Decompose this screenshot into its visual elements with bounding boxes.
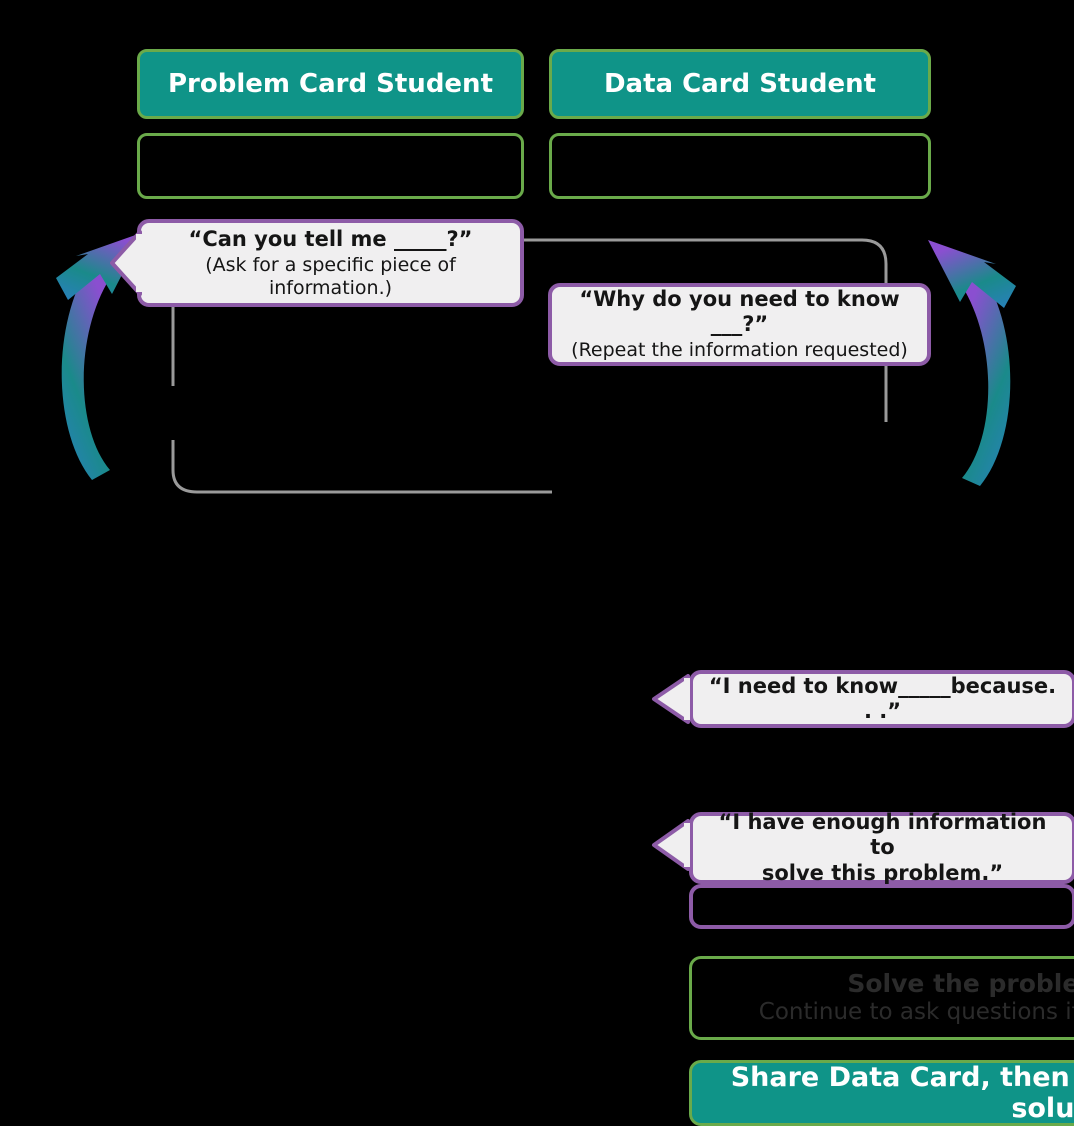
bubble-why-need-to-know[interactable]: “Why do you need to know ___?” (Repeat t… — [548, 283, 931, 366]
bubble-enough-line1: “I have enough information to — [705, 810, 1060, 861]
bubble-ask-line2: (Ask for a specific piece of information… — [153, 254, 508, 300]
banner-solve-line2: Continue to ask questions if more inform… — [759, 999, 1074, 1025]
bubble-why-line1: “Why do you need to know ___?” — [564, 287, 915, 337]
diagram-canvas: Problem Card Student Data Card Student “… — [0, 0, 1074, 863]
banner-solve-independently: Solve the problem independently. Continu… — [689, 956, 1074, 1040]
connector-lines — [0, 0, 1074, 863]
bubble-i-need-tail — [650, 674, 690, 724]
right-loop-arrow-icon — [906, 228, 1036, 528]
bubble-ask-for-information[interactable]: “Can you tell me _____?” (Ask for a spec… — [137, 219, 524, 307]
bubble-i-need-line1: “I need to know_____because. . .” — [705, 674, 1060, 724]
column-header-problem-card: Problem Card Student — [137, 49, 524, 119]
banner-solve-line1: Solve the problem independently. — [847, 970, 1074, 999]
banner-share-label: Share Data Card, then compare strategies… — [692, 1062, 1074, 1124]
column-header-data-card-label: Data Card Student — [604, 69, 876, 99]
bubble-i-need-to-know[interactable]: “I need to know_____because. . .” — [689, 670, 1074, 728]
left-blank-purple-box[interactable] — [689, 884, 1074, 929]
data-card-blank-box[interactable] — [549, 133, 931, 199]
bubble-ask-line1: “Can you tell me _____?” — [153, 227, 508, 252]
bubble-enough-line2: solve this problem.” — [705, 861, 1060, 887]
bubble-why-line2: (Repeat the information requested) — [564, 339, 915, 362]
problem-card-blank-box[interactable] — [137, 133, 524, 199]
column-header-data-card: Data Card Student — [549, 49, 931, 119]
column-header-problem-card-label: Problem Card Student — [168, 69, 493, 99]
banner-share-data-card: Share Data Card, then compare strategies… — [689, 1060, 1074, 1126]
bubble-enough-tail — [650, 819, 690, 871]
bubble-enough-information[interactable]: “I have enough information to solve this… — [689, 812, 1074, 884]
